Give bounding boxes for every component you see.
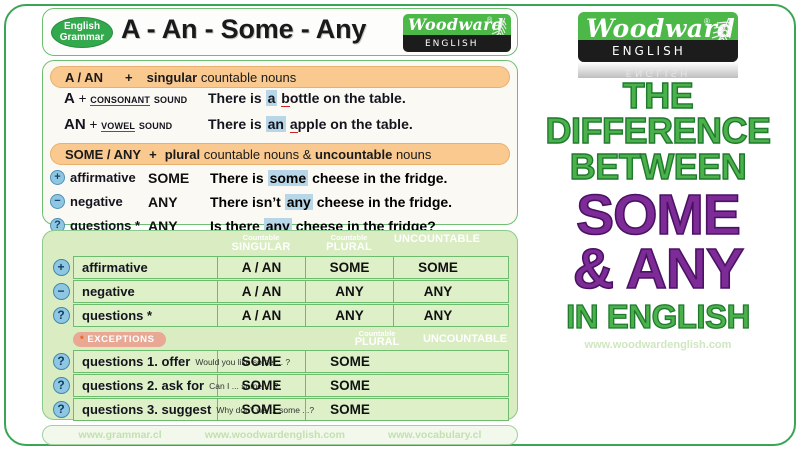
exc-col-1-big: UNCOUNTABLE [421,334,509,345]
table-row: ? questions 1. offer Would you like some… [49,350,509,373]
header-bar: English Grammar A - An - Some - Any Wood… [42,8,518,56]
exc-row-0-icon-wrap: ? [49,353,73,370]
main-logo-band-text: ENGLISH [612,44,686,58]
footer-link-woodwardenglish[interactable]: www.woodwardenglish.com [205,429,345,441]
col-2-big: UNCOUNTABLE [393,234,481,245]
row-0-label: affirmative [74,257,218,278]
row-1-label: negative [74,281,218,302]
headline-in-english: IN ENGLISH [524,300,792,333]
rule-item-1-word: ANY [148,194,210,210]
footer-links-bar: www.grammar.cl www.woodwardenglish.com w… [42,425,518,445]
main-website-text: www.woodwardenglish.com [524,339,792,351]
rule-line-a-label: A + CONSONANT SOUND [50,90,208,107]
rule-item-1-post: cheese in the fridge. [317,194,452,210]
exc-row-2-value-0: SOME [218,399,306,420]
exc-row-2-value-1: SOME [306,399,394,420]
exc-row-0-label: questions 1. offer [82,354,190,369]
exc-row-1-label-wrap: questions 2. ask for Can I ... some ... … [74,375,218,396]
rule-item-0-sentence: There is some cheese in the fridge. [210,170,447,186]
rule-item-1-type: negative [70,194,148,209]
headline-line-2: DIFFERENCE [524,113,792,148]
rule-bar-some-bold1: plural [165,147,200,162]
plus-circle-icon: + [50,170,65,185]
row-0-value-1: SOME [306,257,394,278]
rule-bar-some-mid: countable nouns & [204,147,312,162]
rule-a-article: A [64,90,75,107]
rule-an-sentence: There is an apple on the table. [208,116,413,132]
rule-an-plus: + [89,117,97,132]
exceptions-star-icon: * [80,334,84,345]
row-2-value-1: ANY [306,305,394,326]
rule-bar-some-plus: + [149,147,157,162]
rule-item-0-type: affirmative [70,170,148,185]
rule-bar-some-key: SOME / ANY [65,147,141,162]
row-0-icon-wrap: + [49,259,73,276]
headline-some: SOME [524,188,792,242]
row-0-value-0: A / AN [218,257,306,278]
row-1-value-1: ANY [306,281,394,302]
rule-an-sound-word: VOWEL [101,121,135,132]
question-circle-icon: ? [53,307,70,324]
row-0-value-2: SOME [394,257,482,278]
column-header-plural: Countable PLURAL [305,234,393,256]
rule-item-0-pre: There is [210,170,264,186]
rule-an-post: pple on the table. [298,116,413,132]
rule-bar-some-bold2: uncountable [315,147,392,162]
rule-a-sound-label: SOUND [154,95,188,105]
exc-row-1-value-1: SOME [306,375,394,396]
row-1-value-2: ANY [394,281,482,302]
table-row: ? questions 3. suggest Why don’t we ... … [49,398,509,421]
minus-circle-icon: − [53,283,70,300]
rule-item-1-sentence: There isn’t any cheese in the fridge. [210,194,452,210]
question-circle-icon: ? [53,401,70,418]
headline-line-3: BETWEEN [524,149,792,184]
rule-line-an: AN + VOWEL SOUND There is an apple on th… [50,116,510,140]
row-1-value-0: A / AN [218,281,306,302]
exc-row-0-value-1: SOME [306,351,394,372]
rule-an-highlight: an [266,116,286,132]
exc-row-1-cells: questions 2. ask for Can I ... some ... … [73,374,509,397]
exc-row-1-icon-wrap: ? [49,377,73,394]
footer-link-vocabulary[interactable]: www.vocabulary.cl [388,429,481,441]
rule-a-pre: There is [208,90,262,106]
rule-bar-a-rest: countable nouns [201,70,296,85]
rule-item-0-highlight: some [268,170,309,186]
exc-row-2-label-wrap: questions 3. suggest Why don’t we ... so… [74,399,218,420]
rule-bar-a-bold: singular [147,70,198,85]
rule-an-underlined-letter: a [290,116,298,133]
exc-row-2-cells: questions 3. suggest Why don’t we ... so… [73,398,509,421]
exc-row-1-value-0: SOME [218,375,306,396]
exc-row-0-cells: questions 1. offer Would you like some .… [73,350,509,373]
headline-and-any: & ANY [524,242,792,296]
rule-bar-a-plus: + [125,70,133,85]
rule-a-underlined-letter: b [281,90,290,107]
rule-item-negative: − negative ANY There isn’t any cheese in… [50,190,510,213]
question-circle-icon: ? [53,353,70,370]
rule-a-post: ottle on the table. [290,90,406,106]
exceptions-badge: *EXCEPTIONS [73,332,166,347]
rules-box: A / AN + singular countable nouns A + CO… [42,60,518,225]
exceptions-badge-text: EXCEPTIONS [87,334,154,345]
row-2-value-0: A / AN [218,305,306,326]
rule-item-affirmative: + affirmative SOME There is some cheese … [50,166,510,189]
table-row: + affirmative A / AN SOME SOME [49,256,509,279]
plus-circle-icon: + [53,259,70,276]
english-grammar-badge: English Grammar [51,17,113,48]
badge-line-2: Grammar [52,33,112,44]
rule-bar-a-an: A / AN + singular countable nouns [50,66,510,88]
infographic-root: English Grammar A - An - Some - Any Wood… [0,0,800,450]
headline-line-1: THE [524,78,792,113]
rule-an-pre: There is [208,116,262,132]
left-panel: English Grammar A - An - Some - Any Wood… [42,8,518,442]
rule-a-sentence: There is a bottle on the table. [208,90,406,106]
logo-reflection: ENGLISH [578,62,738,78]
rule-bar-some-rest: nouns [396,147,431,162]
table-row: ? questions * A / AN ANY ANY [49,304,509,327]
summary-table: Countable SINGULAR Countable PLURAL UNCO… [42,230,518,420]
exc-row-2-label: questions 3. suggest [82,402,211,417]
page-title: A - An - Some - Any [121,14,366,45]
logo-band-text: ENGLISH [425,39,479,49]
exc-row-0-label-wrap: questions 1. offer Would you like some .… [74,351,218,372]
rule-an-article: AN [64,116,86,133]
col-0-big: SINGULAR [217,242,305,253]
exc-row-2-icon-wrap: ? [49,401,73,418]
column-header-singular: Countable SINGULAR [217,234,305,256]
rule-item-0-word: SOME [148,170,210,186]
rule-line-an-label: AN + VOWEL SOUND [50,116,208,133]
exc-col-0-big: PLURAL [333,337,421,348]
rule-item-1-pre: There isn’t [210,194,281,210]
col-1-big: PLURAL [305,242,393,253]
rule-an-sound-label: SOUND [139,121,173,131]
column-header-uncountable: UNCOUNTABLE [393,234,481,256]
exception-column-plural: Countable PLURAL [333,330,421,349]
exceptions-header-row: *EXCEPTIONS Countable PLURAL UNCOUNTABLE [49,328,509,350]
rule-line-a: A + CONSONANT SOUND There is a bottle on… [50,90,510,114]
right-panel: Woodward ® ENGLISH ENGLISH THE DIFFERENC… [524,8,792,442]
question-circle-icon: ? [53,377,70,394]
rule-bar-some-any: SOME / ANY + plural countable nouns & un… [50,143,510,165]
exc-row-0-value-0: SOME [218,351,306,372]
row-1-icon-wrap: − [49,283,73,300]
rule-a-highlight: a [266,90,278,106]
woodward-logo-main: Woodward ® ENGLISH [578,12,738,62]
rule-item-0-post: cheese in the fridge. [312,170,447,186]
row-2-value-2: ANY [394,305,482,326]
woodward-logo-header: Woodward ® ENGLISH [403,14,511,52]
rule-bar-a-key: A / AN [65,70,103,85]
table-row: ? questions 2. ask for Can I ... some ..… [49,374,509,397]
rule-item-1-highlight: any [285,194,313,210]
header-spacer [73,234,217,256]
rule-a-sound-word: CONSONANT [90,95,150,106]
exception-column-uncountable: UNCOUNTABLE [421,334,509,345]
row-1-cells: negative A / AN ANY ANY [73,280,509,303]
table-column-headers: Countable SINGULAR Countable PLURAL UNCO… [49,234,509,256]
row-2-label: questions * [74,305,218,326]
table-row: − negative A / AN ANY ANY [49,280,509,303]
row-0-cells: affirmative A / AN SOME SOME [73,256,509,279]
row-2-icon-wrap: ? [49,307,73,324]
minus-circle-icon: − [50,194,65,209]
row-2-cells: questions * A / AN ANY ANY [73,304,509,327]
footer-link-grammar[interactable]: www.grammar.cl [79,429,162,441]
badge-line-1: English [52,22,112,33]
rule-a-plus: + [79,91,87,106]
exc-row-1-label: questions 2. ask for [82,378,204,393]
